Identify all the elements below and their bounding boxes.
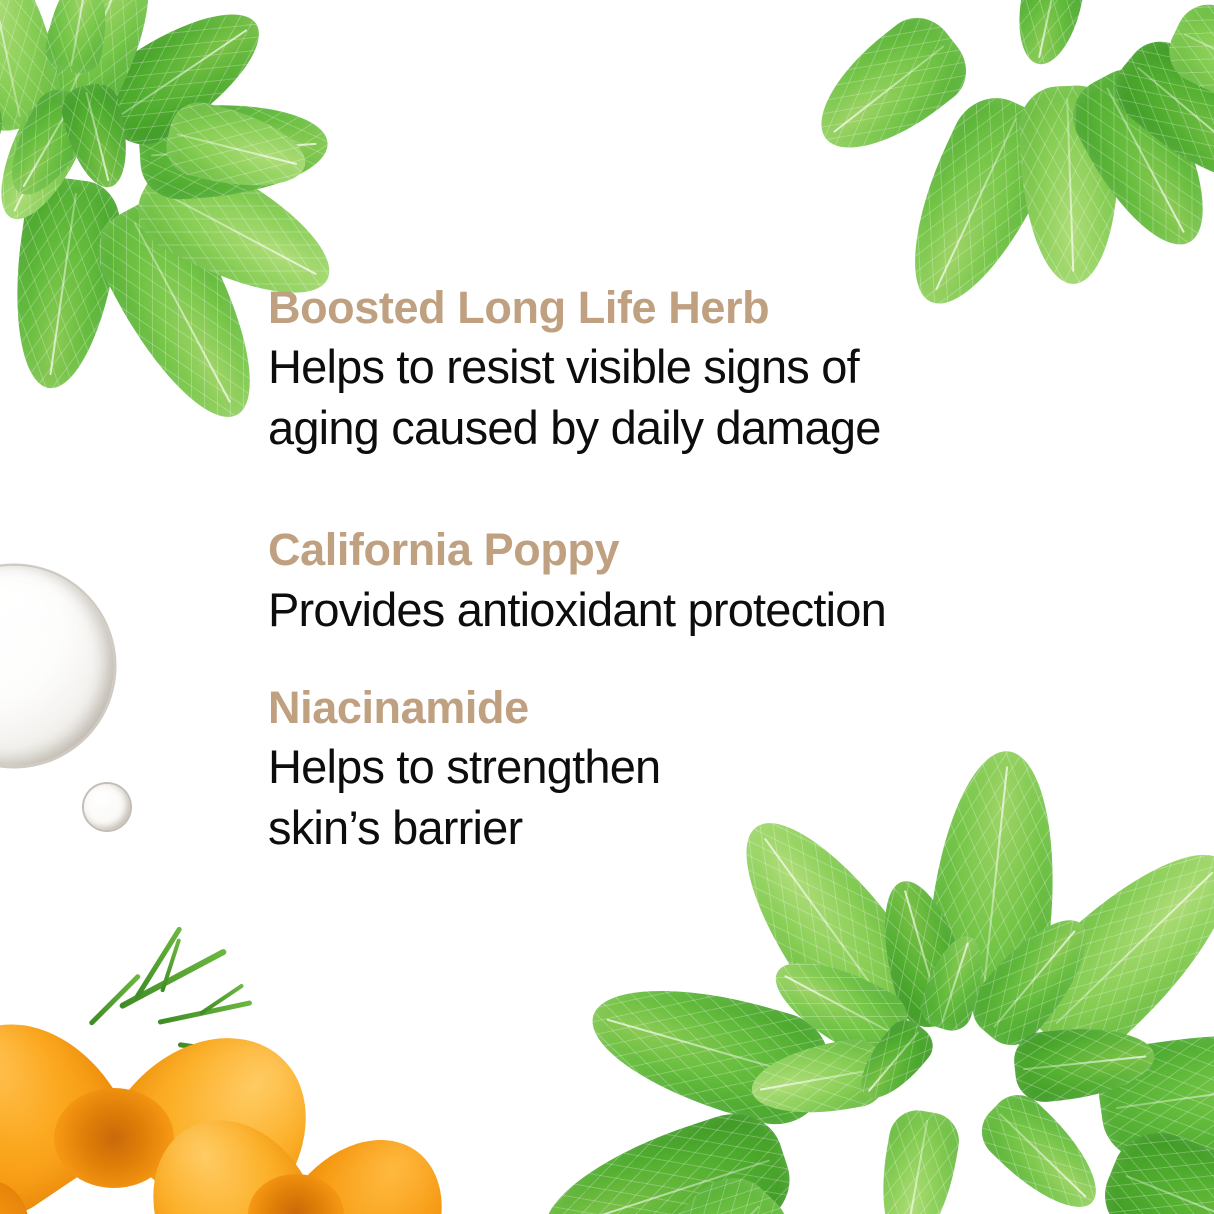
ingredient-list: Boosted Long Life Herb Helps to resist v… bbox=[268, 282, 1068, 858]
ingredient-benefits-panel: Boosted Long Life Herb Helps to resist v… bbox=[0, 0, 1214, 1214]
leaf-cluster-top-right-icon bbox=[850, 0, 1214, 200]
water-droplet-small-icon bbox=[84, 784, 130, 830]
ingredient-item-long-life-herb: Boosted Long Life Herb Helps to resist v… bbox=[268, 282, 1068, 458]
ingredient-heading-niacinamide: Niacinamide bbox=[268, 682, 1068, 734]
ingredient-item-california-poppy: California Poppy Provides antioxidant pr… bbox=[268, 524, 1068, 639]
ingredient-description-niacinamide: Helps to strengthen skin’s barrier bbox=[268, 736, 1068, 858]
california-poppy-flowers-icon bbox=[0, 960, 370, 1214]
ingredient-heading-long-life-herb: Boosted Long Life Herb bbox=[268, 282, 1068, 334]
spacer-1 bbox=[268, 458, 1068, 524]
ingredient-description-california-poppy: Provides antioxidant protection bbox=[268, 579, 1068, 640]
ingredient-description-long-life-herb: Helps to resist visible signs of aging c… bbox=[268, 336, 1068, 458]
ingredient-heading-california-poppy: California Poppy bbox=[268, 524, 1068, 576]
ingredient-item-niacinamide: Niacinamide Helps to strengthen skin’s b… bbox=[268, 682, 1068, 858]
leaf-cluster-top-left-icon bbox=[0, 0, 340, 320]
spacer-2 bbox=[268, 640, 1068, 682]
water-droplet-large-icon bbox=[0, 566, 114, 766]
